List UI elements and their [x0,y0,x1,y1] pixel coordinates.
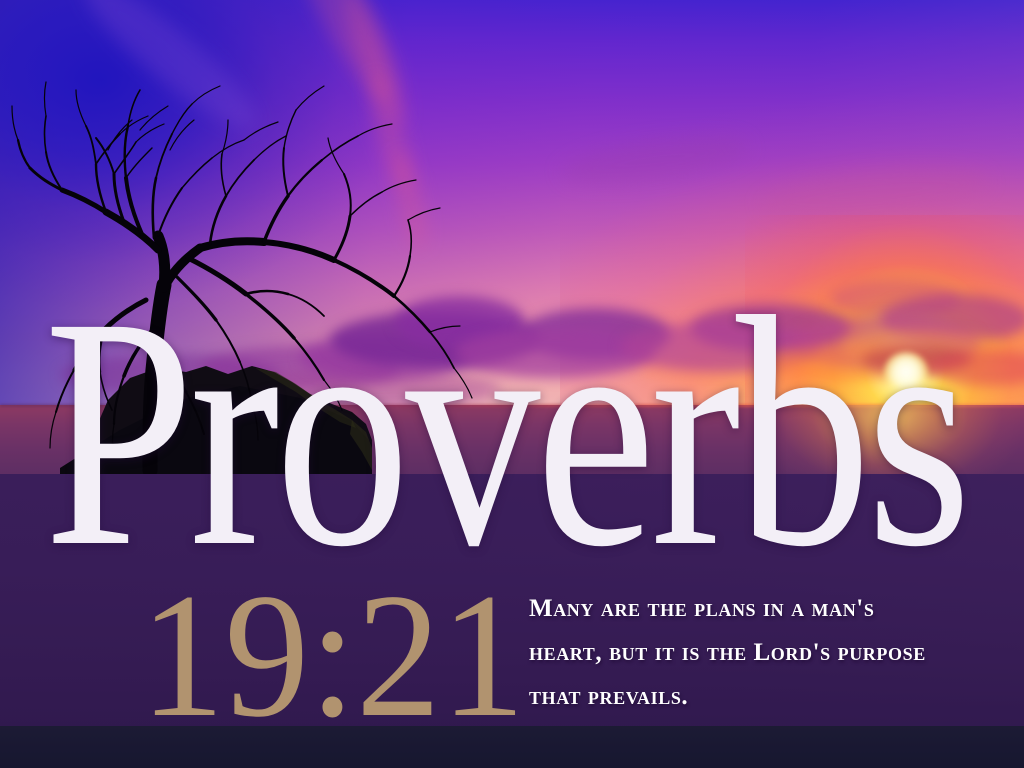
verse-text: Many are the plans in a man's heart, but… [529,587,929,719]
book-title: Proverbs [44,268,967,598]
wallpaper-canvas: Proverbs 19:21 Many are the plans in a m… [0,0,1024,768]
bottom-band [0,726,1024,768]
verse-reference: 19:21 [140,566,525,744]
